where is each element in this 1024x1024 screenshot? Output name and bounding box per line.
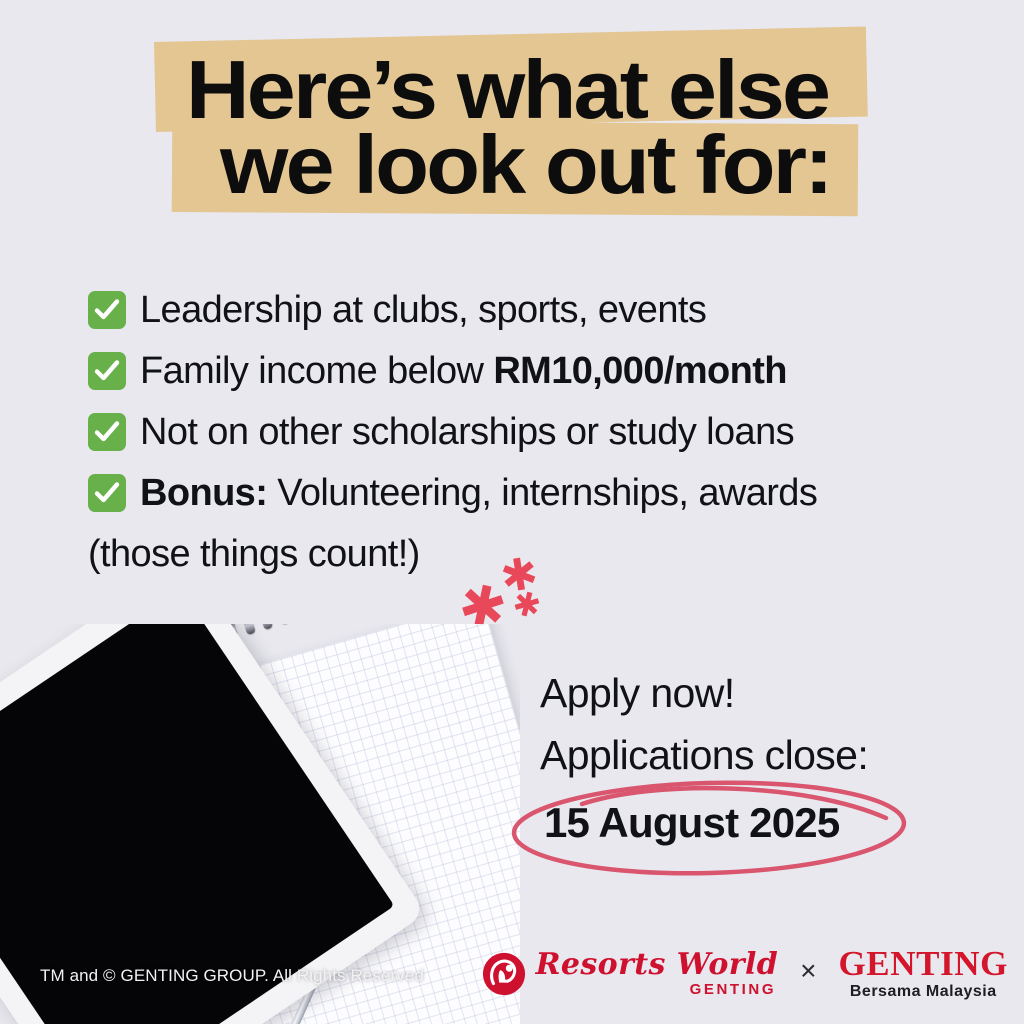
copyright-notice: TM and © GENTING GROUP. All Rights Reser… xyxy=(40,966,424,986)
list-item-label: Bonus: Volunteering, internships, awards xyxy=(140,467,817,519)
green-check-icon xyxy=(88,413,126,451)
list-item-label: Leadership at clubs, sports, events xyxy=(140,284,706,336)
applications-close-label: Applications close: xyxy=(540,724,970,786)
resorts-world-logo: Resorts World GENTING xyxy=(481,949,779,999)
apply-block: Apply now! Applications close: 15 August… xyxy=(540,662,970,866)
list-item: Bonus: Volunteering, internships, awards xyxy=(88,467,968,519)
logo-separator-x: × xyxy=(800,955,816,993)
genting-tagline: Bersama Malaysia xyxy=(850,982,997,1002)
deadline-date-wrapper: 15 August 2025 xyxy=(540,792,970,866)
green-check-icon xyxy=(88,352,126,390)
desk-photo-collage xyxy=(0,624,520,1024)
resorts-world-lion-mark xyxy=(481,951,527,997)
list-item-emphasis: RM10,000/month xyxy=(493,350,787,392)
logo-lockup: Resorts World GENTING × GENTING Bersama … xyxy=(481,946,1008,1002)
genting-logo: GENTING Bersama Malaysia xyxy=(838,946,1008,1002)
criteria-checklist: Leadership at clubs, sports, events Fami… xyxy=(88,284,968,580)
headline-line-2: we look out for: xyxy=(220,123,831,207)
deadline-date: 15 August 2025 xyxy=(544,792,839,854)
resorts-world-wordmark: Resorts World GENTING xyxy=(536,949,779,999)
list-item-emphasis: Bonus: xyxy=(140,472,267,514)
genting-wordmark: GENTING xyxy=(838,946,1008,982)
list-item: Leadership at clubs, sports, events xyxy=(88,284,968,336)
resorts-world-script: Resorts World xyxy=(536,949,779,981)
headline-block: Here’s what else we look out for: xyxy=(0,0,1024,240)
list-item-label: Family income below RM10,000/month xyxy=(140,345,787,397)
list-item-label: Not on other scholarships or study loans xyxy=(140,406,794,458)
green-check-icon xyxy=(88,474,126,512)
promo-poster: Here’s what else we look out for: Leader… xyxy=(0,0,1024,1024)
list-item: Family income below RM10,000/month xyxy=(88,345,968,397)
list-item: Not on other scholarships or study loans xyxy=(88,406,968,458)
resorts-world-sublabel: GENTING xyxy=(690,981,777,999)
green-check-icon xyxy=(88,291,126,329)
apply-cta-text: Apply now! xyxy=(540,662,970,724)
